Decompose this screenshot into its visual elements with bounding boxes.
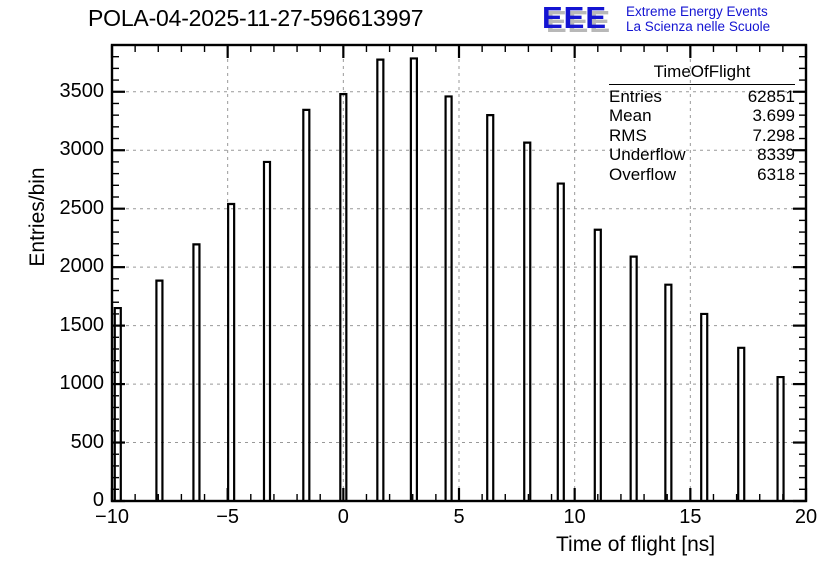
root-canvas: POLA-04-2025-11-27-596613997 EEE EEE Ext…: [0, 0, 836, 572]
stats-row-value: 3.699: [752, 106, 795, 126]
x-tick-label: 20: [776, 506, 836, 529]
x-tick-label: 10: [545, 506, 605, 529]
x-tick-label: 15: [660, 506, 720, 529]
stats-row-value: 62851: [748, 87, 795, 107]
stats-box: TimeOfFlight Entries62851Mean3.699RMS7.2…: [607, 62, 797, 184]
stats-box-title: TimeOfFlight: [607, 62, 797, 84]
stats-row-value: 6318: [757, 165, 795, 185]
stats-row: Overflow6318: [607, 165, 797, 185]
x-tick-label: −5: [198, 506, 258, 529]
stats-row-key: Overflow: [609, 165, 676, 185]
stats-row: RMS7.298: [607, 126, 797, 146]
stats-box-divider: [609, 84, 795, 85]
stats-row-key: Mean: [609, 106, 652, 126]
x-tick-label: 5: [429, 506, 489, 529]
stats-row: Mean3.699: [607, 106, 797, 126]
stats-row-key: RMS: [609, 126, 647, 146]
stats-row-value: 8339: [757, 145, 795, 165]
stats-row-key: Entries: [609, 87, 662, 107]
stats-row: Entries62851: [607, 87, 797, 107]
stats-box-rows: Entries62851Mean3.699RMS7.298Underflow83…: [607, 87, 797, 185]
x-tick-label: 0: [313, 506, 373, 529]
x-tick-label: −10: [82, 506, 142, 529]
stats-row-key: Underflow: [609, 145, 686, 165]
stats-row-value: 7.298: [752, 126, 795, 146]
stats-row: Underflow8339: [607, 145, 797, 165]
